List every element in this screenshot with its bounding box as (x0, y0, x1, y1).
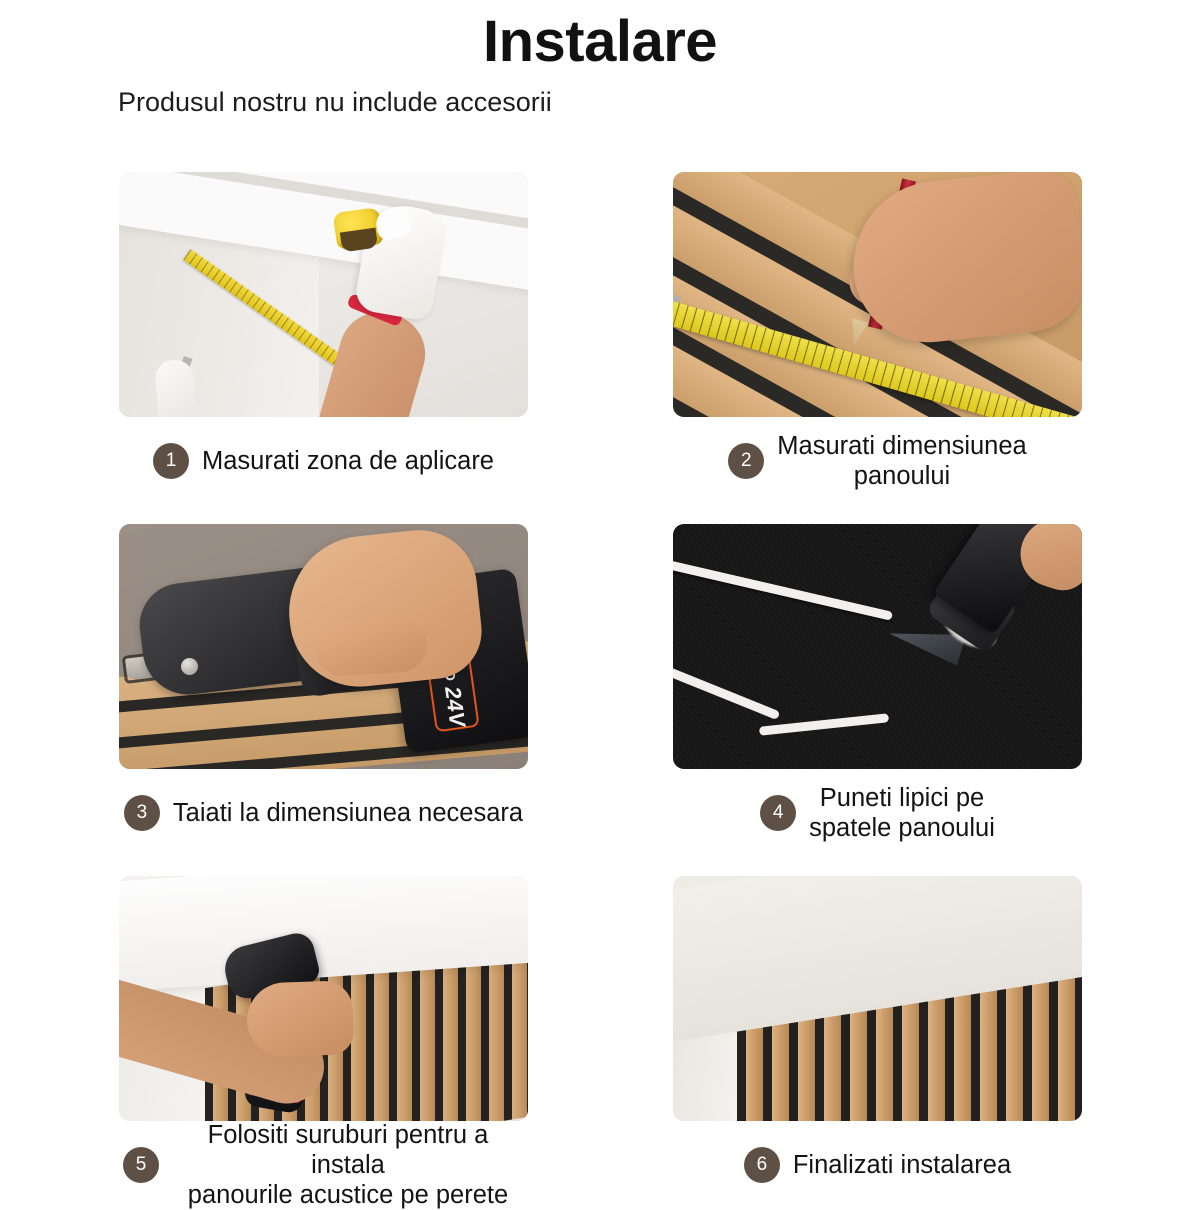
step-caption-4: 4 Puneti lipici pe spatele panoului (673, 769, 1082, 857)
step-photo-6 (673, 876, 1082, 1121)
step-badge-1: 1 (153, 443, 189, 479)
installation-steps-grid: 1 Masurati zona de aplicare (119, 172, 1082, 1209)
step-caption-1: 1 Masurati zona de aplicare (119, 417, 528, 505)
step-label-3: Taiati la dimensiunea necesara (173, 798, 523, 828)
step-photo-2 (673, 172, 1082, 417)
step-card-6: 6 Finalizati instalarea (673, 876, 1082, 1209)
page-subtitle: Produsul nostru nu include accesorii (0, 87, 1200, 118)
step-card-3: F.EASY.D 24V 3 Taiati la dimensiunea nec… (119, 524, 528, 857)
step-label-2: Masurati dimensiunea panoului (777, 431, 1026, 491)
step-badge-6: 6 (744, 1147, 780, 1183)
page-title: Instalare (0, 12, 1200, 73)
step-label-1: Masurati zona de aplicare (202, 446, 494, 476)
step-caption-3: 3 Taiati la dimensiunea necesara (119, 769, 528, 857)
step-label-6: Finalizati instalarea (793, 1150, 1011, 1180)
step-badge-3: 3 (124, 795, 160, 831)
step-badge-4: 4 (760, 795, 796, 831)
step-card-4: 4 Puneti lipici pe spatele panoului (673, 524, 1082, 857)
step-caption-5: 5 Folositi suruburi pentru a instala pan… (119, 1121, 528, 1209)
step-badge-2: 2 (728, 443, 764, 479)
step-card-5: 5 Folositi suruburi pentru a instala pan… (119, 876, 528, 1209)
page-header: Instalare Produsul nostru nu include acc… (0, 0, 1200, 118)
step-card-2: 2 Masurati dimensiunea panoului (673, 172, 1082, 505)
step-photo-3: F.EASY.D 24V (119, 524, 528, 769)
step-label-5: Folositi suruburi pentru a instala panou… (172, 1120, 524, 1210)
step-caption-2: 2 Masurati dimensiunea panoului (673, 417, 1082, 505)
step-photo-4 (673, 524, 1082, 769)
step-badge-5: 5 (123, 1147, 159, 1183)
step-label-4: Puneti lipici pe spatele panoului (809, 783, 995, 843)
tool-voltage-text: 24V (439, 685, 470, 729)
step-photo-5 (119, 876, 528, 1121)
step-card-1: 1 Masurati zona de aplicare (119, 172, 528, 505)
step-photo-1 (119, 172, 528, 417)
step-caption-6: 6 Finalizati instalarea (673, 1121, 1082, 1209)
